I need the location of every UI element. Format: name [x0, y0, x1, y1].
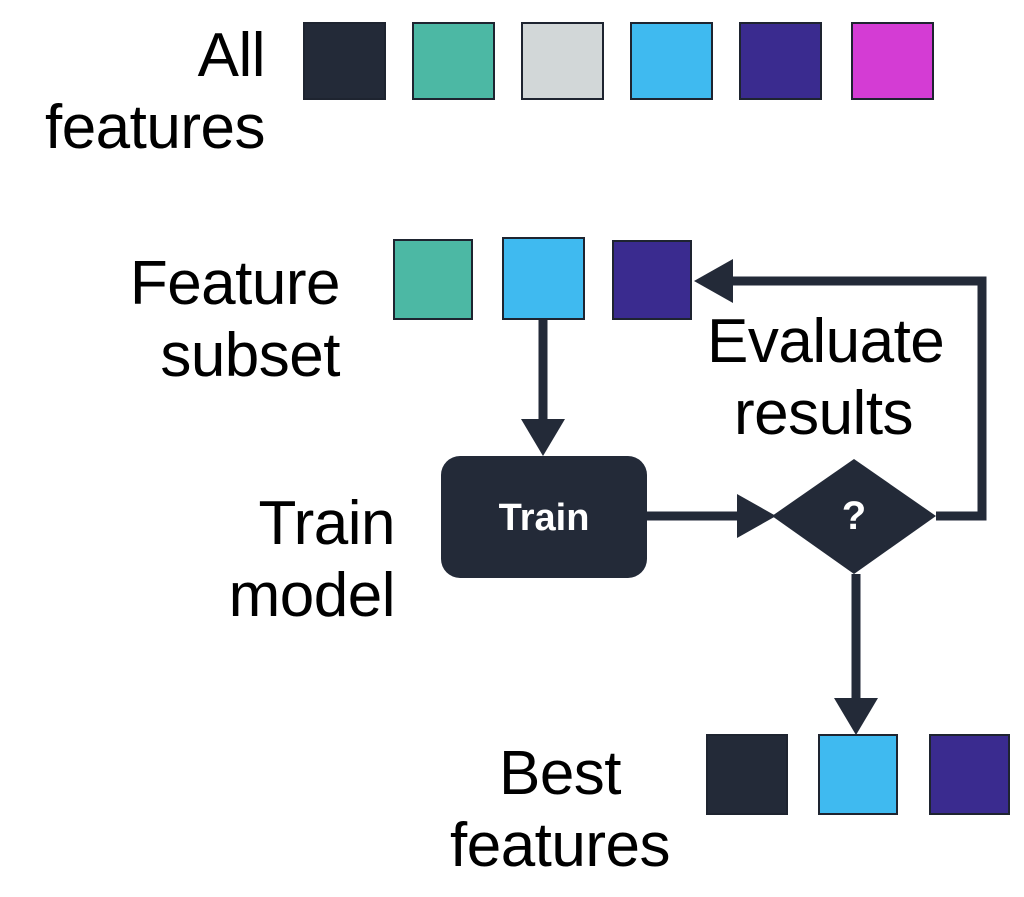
feature-subset-label: Feature subset: [20, 248, 340, 392]
all-features-swatch-teal: [412, 22, 495, 100]
best-features-swatch-dark: [706, 734, 788, 815]
diagram-canvas: All features Feature subset Train model …: [0, 0, 1024, 897]
decision-node[interactable]: [772, 459, 936, 574]
best-features-swatch-purple: [929, 734, 1010, 815]
edge-train-to-decision: [647, 494, 776, 538]
edge-decision-to-best: [834, 574, 878, 735]
train-node[interactable]: [441, 456, 647, 578]
feature-subset-swatch-blue: [502, 237, 585, 320]
all-features-swatch-blue: [630, 22, 713, 100]
feature-subset-swatch-teal: [393, 239, 473, 320]
best-features-swatch-blue: [818, 734, 898, 815]
decision-node-label: ?: [804, 494, 904, 539]
all-features-swatch-magenta: [851, 22, 934, 100]
edge-subset-to-train: [521, 320, 565, 456]
all-features-swatch-dark: [303, 22, 386, 100]
best-features-label: Best features: [430, 738, 690, 882]
all-features-label: All features: [0, 20, 265, 164]
all-features-swatch-purple: [739, 22, 822, 100]
feature-subset-swatch-purple: [612, 240, 692, 320]
evaluate-results-edge-label: Evaluate results: [707, 306, 940, 450]
train-model-label: Train model: [130, 488, 395, 632]
train-node-label: Train: [441, 497, 647, 540]
all-features-swatch-gray: [521, 22, 604, 100]
